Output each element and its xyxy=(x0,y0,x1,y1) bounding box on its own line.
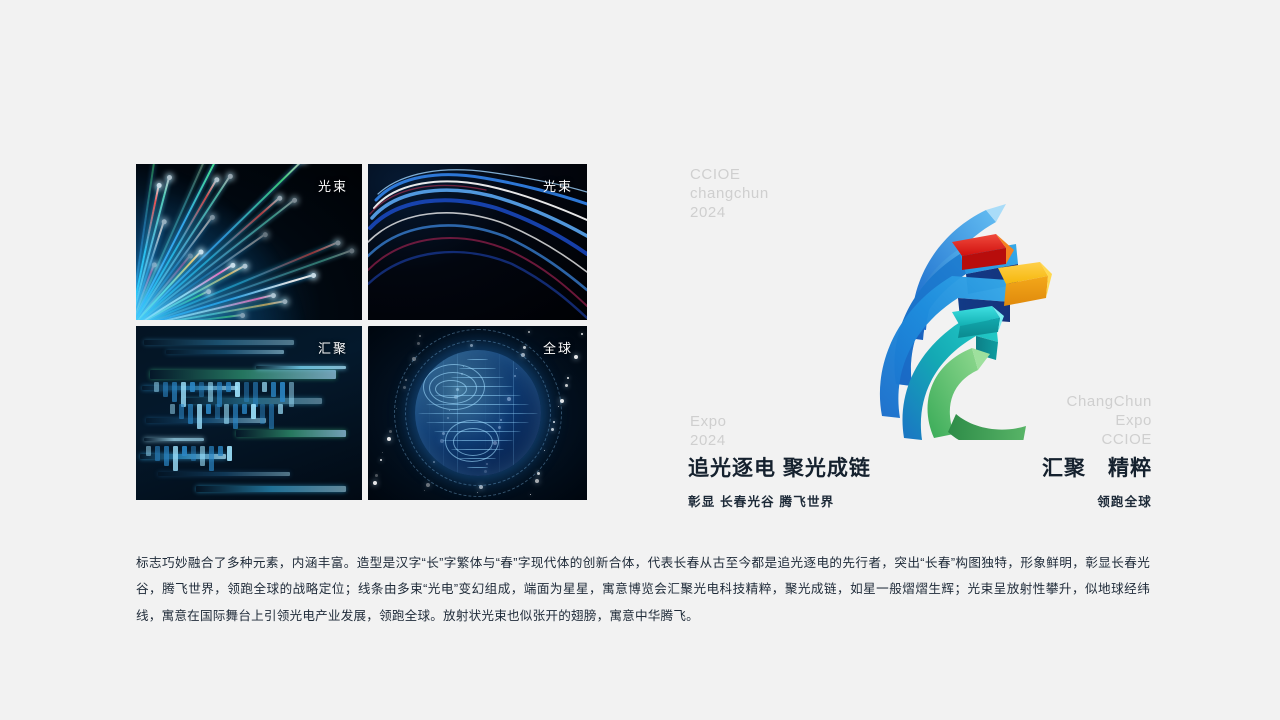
star-dot xyxy=(528,331,530,333)
watermark-line: 2024 xyxy=(690,431,727,450)
circuit-pin xyxy=(215,404,220,419)
tile-label: 光束 xyxy=(318,176,348,195)
globe-longitude xyxy=(513,350,514,476)
slogan-left-subline: 彰显 长春光谷 腾飞世界 xyxy=(688,491,871,510)
moodboard-tile-light-beam-fiber[interactable]: 光束 xyxy=(136,164,362,320)
logo-artwork xyxy=(800,188,1052,440)
concept-board: 光束 光束 汇 xyxy=(0,0,1280,720)
circuit-pin xyxy=(200,446,205,466)
circuit-bar xyxy=(144,438,204,441)
circuit-pin xyxy=(218,446,223,456)
slogan-right: 汇聚 精粹 领跑全球 xyxy=(1042,452,1152,510)
circuit-pin xyxy=(188,404,193,424)
circuit-pin xyxy=(197,404,202,429)
watermark-bottom-right: ChangChun Expo CCIOE xyxy=(1067,392,1152,450)
circuit-pin xyxy=(170,404,175,414)
star-dot xyxy=(424,490,425,491)
circuit-pin xyxy=(280,382,285,402)
circuit-bar xyxy=(166,350,284,354)
circuit-pin xyxy=(154,382,159,392)
circuit-bar xyxy=(144,340,294,345)
star-dot xyxy=(389,430,392,433)
moodboard-tile-light-beam-trails[interactable]: 光束 xyxy=(368,164,587,320)
digital-globe xyxy=(415,350,541,476)
circuit-pin xyxy=(289,382,294,407)
watermark-line: changchun xyxy=(690,184,769,203)
star-dot xyxy=(565,384,568,387)
circuit-pin xyxy=(179,404,184,419)
star-dot xyxy=(419,335,421,337)
circuit-pin xyxy=(208,382,213,402)
circuit-pin xyxy=(233,404,238,429)
star-dot xyxy=(530,494,531,495)
slogan-right-subline: 领跑全球 xyxy=(1042,491,1152,510)
circuit-pin xyxy=(260,404,265,424)
star-dot xyxy=(380,459,382,461)
circuit-bar xyxy=(196,486,346,492)
star-dot xyxy=(373,481,377,485)
watermark-top-left: CCIOE changchun 2024 xyxy=(690,165,769,223)
circuit-pin xyxy=(278,404,283,414)
circuit-pin-row xyxy=(170,404,283,429)
star-dot xyxy=(426,483,430,487)
moodboard-tile-converge-circuit[interactable]: 汇聚 xyxy=(136,326,362,500)
watermark-bottom-left: Expo 2024 xyxy=(690,412,727,450)
circuit-pin xyxy=(172,382,177,402)
circuit-bar xyxy=(150,370,336,379)
tile-label: 汇聚 xyxy=(318,338,348,357)
slogan-right-headline: 汇聚 精粹 xyxy=(1042,452,1152,482)
watermark-line: 2024 xyxy=(690,203,769,222)
circuit-pin xyxy=(164,446,169,466)
globe-longitude xyxy=(499,350,500,476)
globe-latitude xyxy=(418,413,538,414)
circuit-pin xyxy=(146,446,151,456)
circuit-pin xyxy=(242,404,247,414)
circuit-pin-row xyxy=(146,446,232,471)
circuit-pin xyxy=(269,404,274,429)
circuit-bar xyxy=(158,472,290,476)
logo-block-yellow xyxy=(998,262,1052,306)
circuit-pin xyxy=(190,382,195,392)
star-dot xyxy=(375,474,378,477)
circuit-pin xyxy=(155,446,160,461)
circuit-bar xyxy=(256,366,346,369)
watermark-line: ChangChun xyxy=(1067,392,1152,411)
watermark-line: CCIOE xyxy=(690,165,769,184)
ccioe-logo[interactable] xyxy=(800,188,1052,440)
moodboard-tile-global-globe[interactable]: 全球 xyxy=(368,326,587,500)
circuit-pin xyxy=(244,382,249,402)
circuit-pin xyxy=(251,404,256,419)
circuit-pin xyxy=(209,446,214,471)
slogan-left-headline: 追光逐电 聚光成链 xyxy=(688,452,871,482)
star-dot xyxy=(535,479,539,483)
circuit-pin xyxy=(199,382,204,397)
circuit-pin xyxy=(226,382,231,392)
tile-label: 全球 xyxy=(543,338,573,357)
watermark-line: Expo xyxy=(690,412,727,431)
circuit-pin xyxy=(191,446,196,461)
star-dot xyxy=(537,472,540,475)
circuit-pin xyxy=(173,446,178,471)
tile-label: 光束 xyxy=(543,176,573,195)
logo-description: 标志巧妙融合了多种元素，内涵丰富。造型是汉字“长”字繁体与“春”字现代体的创新合… xyxy=(136,550,1150,629)
watermark-line: CCIOE xyxy=(1067,430,1152,449)
circuit-pin xyxy=(227,446,232,461)
star-dot xyxy=(387,437,391,441)
star-dot xyxy=(581,333,583,335)
circuit-pin xyxy=(206,404,211,414)
star-dot xyxy=(417,342,420,345)
star-dot xyxy=(567,377,569,379)
star-dot xyxy=(574,355,578,359)
moodboard-grid: 光束 光束 汇 xyxy=(136,164,587,500)
circuit-pin xyxy=(163,382,168,397)
star-dot xyxy=(382,452,383,453)
circuit-pin xyxy=(271,382,276,397)
circuit-pin xyxy=(224,404,229,424)
watermark-line: Expo xyxy=(1067,411,1152,430)
circuit-pin xyxy=(235,382,240,397)
slogan-left: 追光逐电 聚光成链 彰显 长春光谷 腾飞世界 xyxy=(688,452,871,510)
circuit-bar xyxy=(236,430,346,437)
star-dot xyxy=(368,326,369,327)
circuit-pin xyxy=(262,382,267,392)
circuit-pin xyxy=(182,446,187,456)
